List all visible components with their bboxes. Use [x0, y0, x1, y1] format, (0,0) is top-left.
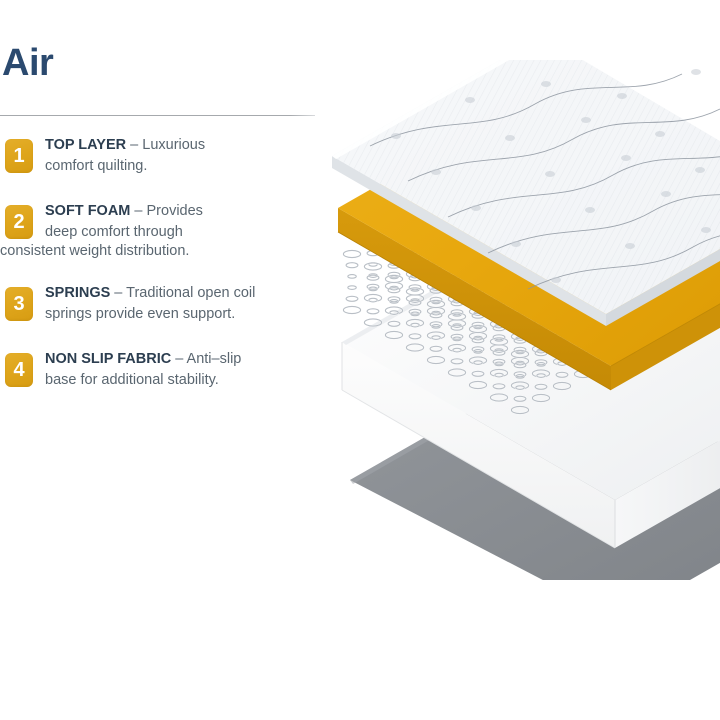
- title-divider: [0, 115, 315, 116]
- feature-number-badge: 1: [5, 139, 33, 173]
- page-title: Air: [2, 44, 53, 82]
- feature-number-badge: 4: [5, 353, 33, 387]
- list-item: 1 TOP LAYER – Luxurious comfort quilting…: [0, 135, 330, 187]
- feature-dash: –: [110, 285, 126, 301]
- coil-spring: [343, 250, 360, 313]
- feature-list: 1 TOP LAYER – Luxurious comfort quilting…: [0, 135, 330, 415]
- feature-description-line-2: deep comfort through: [45, 224, 183, 240]
- feature-description-line-1: Traditional open coil: [126, 285, 255, 301]
- feature-description-line-2: springs provide even support.: [45, 306, 235, 322]
- feature-number-badge: 2: [5, 205, 33, 239]
- feature-description-line-1: Provides: [147, 203, 203, 219]
- mattress-layers-illustration: [330, 60, 720, 580]
- feature-description-line-1: Luxurious: [142, 137, 205, 153]
- feature-dash: –: [130, 203, 146, 219]
- feature-description-line-3: consistent weight distribution.: [0, 241, 330, 262]
- list-item: 4 NON SLIP FABRIC – Anti–slip base for a…: [0, 349, 330, 401]
- product-detail-page: Air 1 TOP LAYER – Luxurious comfort quil…: [0, 0, 720, 720]
- feature-label: SPRINGS: [45, 285, 110, 301]
- feature-number-badge: 3: [5, 287, 33, 321]
- feature-text: NON SLIP FABRIC – Anti–slip base for add…: [0, 349, 330, 392]
- feature-description-line-2: base for additional stability.: [45, 372, 219, 388]
- product-info-panel: Air 1 TOP LAYER – Luxurious comfort quil…: [0, 0, 330, 460]
- feature-label: SOFT FOAM: [45, 203, 130, 219]
- list-item: 3 SPRINGS – Traditional open coil spring…: [0, 283, 330, 335]
- feature-text: SOFT FOAM – Provides deep comfort throug…: [0, 201, 330, 244]
- feature-dash: –: [171, 351, 186, 367]
- feature-dash: –: [126, 137, 142, 153]
- feature-text: TOP LAYER – Luxurious comfort quilting.: [0, 135, 330, 178]
- feature-description-line-1: Anti–slip: [187, 351, 242, 367]
- feature-description-line-2: comfort quilting.: [45, 158, 147, 174]
- feature-label: NON SLIP FABRIC: [45, 351, 171, 367]
- feature-text: SPRINGS – Traditional open coil springs …: [0, 283, 330, 326]
- feature-label: TOP LAYER: [45, 137, 126, 153]
- list-item: 2 SOFT FOAM – Provides deep comfort thro…: [0, 201, 330, 253]
